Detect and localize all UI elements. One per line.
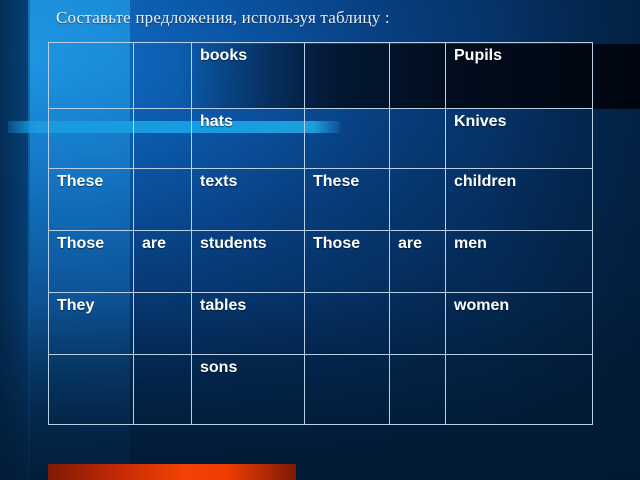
- table-cell: men: [446, 231, 593, 293]
- cell-text: Pupils: [454, 43, 592, 65]
- table-cell: [446, 355, 593, 425]
- cell-text: men: [454, 231, 592, 253]
- table-row: They tables women: [49, 293, 593, 355]
- table-cell: [134, 109, 192, 169]
- table-cell: [134, 293, 192, 355]
- table-cell: [390, 293, 446, 355]
- cell-text: books: [200, 43, 304, 65]
- cell-text: [398, 109, 445, 114]
- table-cell: are: [134, 231, 192, 293]
- table-cell: [134, 355, 192, 425]
- table-cell: sons: [192, 355, 305, 425]
- cell-text: [142, 355, 191, 360]
- cell-text: sons: [200, 355, 304, 377]
- table-cell: [49, 109, 134, 169]
- table-cell: [134, 169, 192, 231]
- table-cell: hats: [192, 109, 305, 169]
- table-cell: [390, 109, 446, 169]
- cell-text: [142, 43, 191, 48]
- page-title: Составьте предложения, используя таблицу…: [56, 8, 390, 28]
- sentence-table: books Pupils hats Knives These texts: [48, 42, 593, 425]
- table-cell: texts: [192, 169, 305, 231]
- table-row: These texts These children: [49, 169, 593, 231]
- table-cell: tables: [192, 293, 305, 355]
- table-row: hats Knives: [49, 109, 593, 169]
- table-cell: [134, 43, 192, 109]
- cell-text: women: [454, 293, 592, 315]
- table-cell: They: [49, 293, 134, 355]
- table-cell: Those: [49, 231, 134, 293]
- cell-text: hats: [200, 109, 304, 131]
- cell-text: [398, 169, 445, 174]
- table-cell: Pupils: [446, 43, 593, 109]
- table-cell: [390, 355, 446, 425]
- table-cell: children: [446, 169, 593, 231]
- cell-text: children: [454, 169, 592, 191]
- table-cell: [390, 169, 446, 231]
- table-row: sons: [49, 355, 593, 425]
- cell-text: Those: [313, 231, 389, 253]
- cell-text: [313, 109, 389, 114]
- table-row: books Pupils: [49, 43, 593, 109]
- table-cell: Knives: [446, 109, 593, 169]
- table-cell: students: [192, 231, 305, 293]
- cell-text: [398, 355, 445, 360]
- cell-text: [313, 355, 389, 360]
- cell-text: texts: [200, 169, 304, 191]
- cell-text: [454, 355, 592, 360]
- cell-text: [57, 109, 133, 114]
- cell-text: [313, 293, 389, 298]
- cell-text: [57, 355, 133, 360]
- slide: Составьте предложения, используя таблицу…: [0, 0, 640, 480]
- table-cell: These: [49, 169, 134, 231]
- table-cell: women: [446, 293, 593, 355]
- accent-orange-bar: [48, 464, 296, 480]
- cell-text: [398, 43, 445, 48]
- table-cell: [305, 355, 390, 425]
- table-cell: [305, 293, 390, 355]
- cell-text: [398, 293, 445, 298]
- cell-text: are: [142, 231, 191, 253]
- table-cell: [49, 43, 134, 109]
- sentence-table-wrapper: books Pupils hats Knives These texts: [48, 42, 592, 424]
- cell-text: These: [313, 169, 389, 191]
- cell-text: are: [398, 231, 445, 253]
- cell-text: tables: [200, 293, 304, 315]
- table-cell: [390, 43, 446, 109]
- cell-text: Those: [57, 231, 133, 253]
- table-cell: These: [305, 169, 390, 231]
- table-cell: Those: [305, 231, 390, 293]
- table-cell: [305, 109, 390, 169]
- table-cell: books: [192, 43, 305, 109]
- table-cell: [305, 43, 390, 109]
- cell-text: students: [200, 231, 304, 253]
- cell-text: Knives: [454, 109, 592, 131]
- cell-text: [142, 293, 191, 298]
- table-cell: are: [390, 231, 446, 293]
- table-cell: [49, 355, 134, 425]
- cell-text: [142, 109, 191, 114]
- table-row: Those are students Those are men: [49, 231, 593, 293]
- cell-text: They: [57, 293, 133, 315]
- cell-text: These: [57, 169, 133, 191]
- cell-text: [57, 43, 133, 48]
- cell-text: [313, 43, 389, 48]
- cell-text: [142, 169, 191, 174]
